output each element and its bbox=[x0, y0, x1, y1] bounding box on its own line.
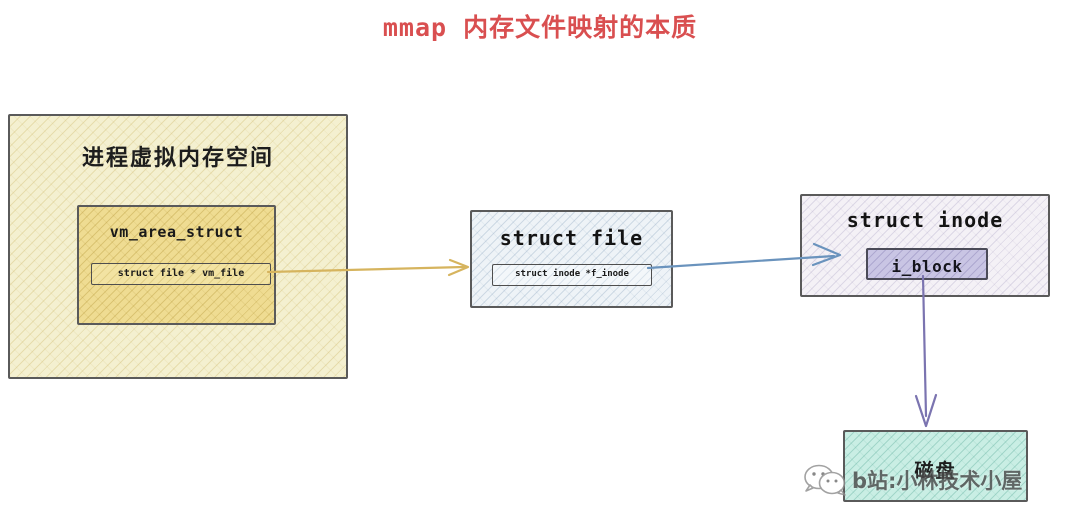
struct-file-label: struct file bbox=[472, 226, 671, 250]
f-inode-field-box: struct inode *f_inode bbox=[492, 264, 652, 286]
i-block-field-label: i_block bbox=[868, 257, 986, 276]
struct-file-box: struct file bbox=[470, 210, 673, 308]
f-inode-field-label: struct inode *f_inode bbox=[493, 269, 651, 279]
struct-inode-label: struct inode bbox=[802, 208, 1048, 232]
arrow-i-block-to-disk bbox=[900, 276, 940, 430]
page-title: mmap 内存文件映射的本质 bbox=[0, 8, 1080, 44]
disk-label: 磁盘 bbox=[845, 456, 1026, 483]
arrow-f-inode-to-struct-inode bbox=[648, 240, 848, 280]
vm-file-field-label: struct file * vm_file bbox=[92, 268, 270, 279]
wechat-logo-icon bbox=[802, 463, 848, 497]
vm-file-field-box: struct file * vm_file bbox=[91, 263, 271, 285]
disk-box: 磁盘 bbox=[843, 430, 1028, 502]
diagram-canvas: mmap 内存文件映射的本质 进程虚拟内存空间 vm_area_struct s… bbox=[0, 0, 1080, 527]
vm-space-label: 进程虚拟内存空间 bbox=[10, 140, 346, 172]
vm-area-struct-label: vm_area_struct bbox=[79, 223, 274, 241]
arrow-vm-file-to-struct-file bbox=[268, 250, 478, 280]
